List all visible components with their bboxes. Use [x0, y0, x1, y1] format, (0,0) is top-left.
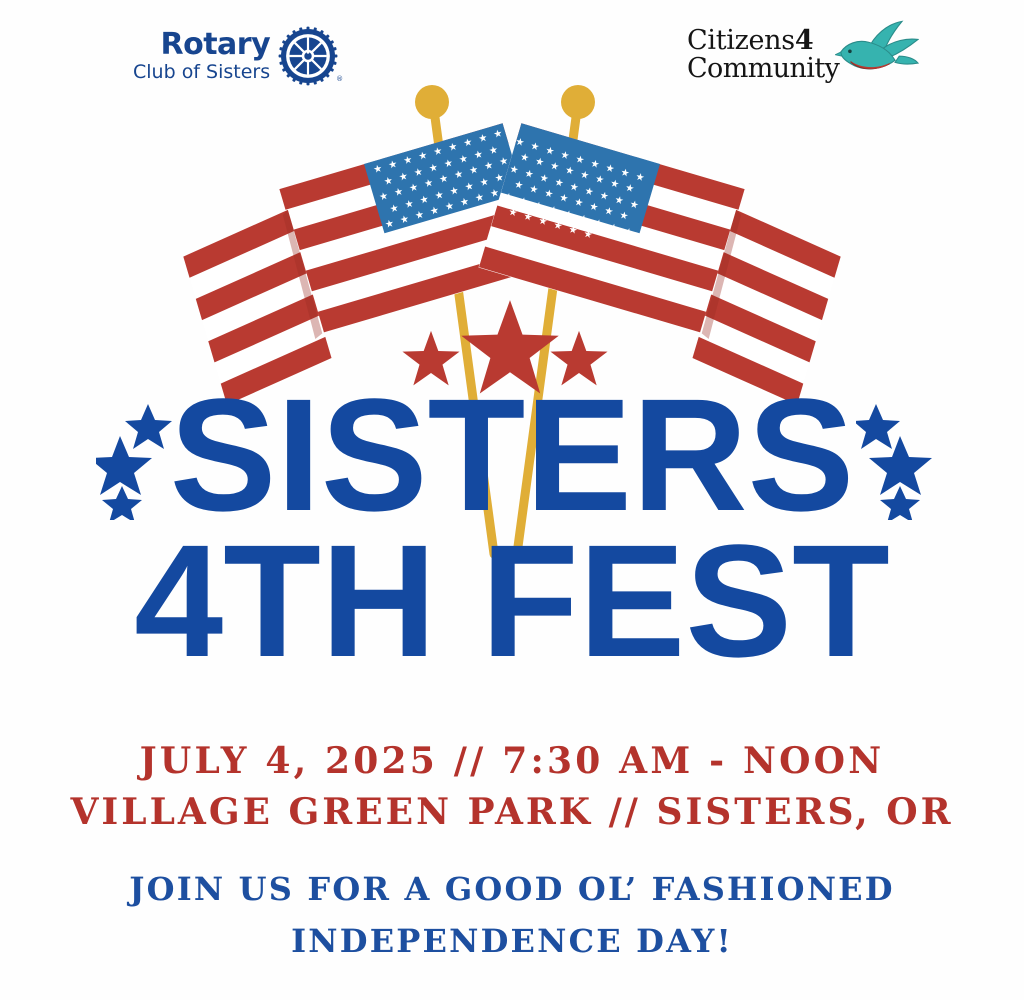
tagline-line-2: INDEPENDENCE DAY! [0, 916, 1024, 968]
event-venue-location: VILLAGE GREEN PARK // SISTERS, OR [0, 787, 1024, 838]
tagline-line-1: JOIN US FOR A GOOD OL’ FASHIONED [0, 864, 1024, 916]
registered-trademark-icon: ® [336, 75, 343, 83]
event-tagline: JOIN US FOR A GOOD OL’ FASHIONED INDEPEN… [0, 864, 1024, 968]
c4c-community-text: Community [687, 55, 839, 83]
poster-title: SISTERS 4TH FEST [0, 386, 1024, 669]
title-line-4th-fest: 4TH FEST [0, 532, 1024, 670]
rotary-club-of-sisters-logo: Rotary Club of Sisters [133, 26, 338, 86]
rotary-sub-text: Club of Sisters [133, 63, 270, 82]
rotary-wheel-icon: ® [278, 26, 338, 86]
swallow-bird-icon [835, 20, 919, 86]
rotary-wordmark: Rotary Club of Sisters [133, 30, 270, 82]
rotary-main-text: Rotary [160, 30, 270, 60]
title-line-sisters: SISTERS [0, 386, 1024, 524]
sponsor-logo-bar: Rotary Club of Sisters [0, 0, 1024, 104]
event-poster: Rotary Club of Sisters [0, 0, 1024, 1000]
citizens4community-logo: Citizens4 Community [687, 24, 919, 86]
c4c-numeral-four: 4 [795, 25, 814, 56]
event-details: JULY 4, 2025 // 7:30 AM - NOON VILLAGE G… [0, 736, 1024, 838]
c4c-line1: Citizens4 [687, 27, 839, 55]
c4c-wordmark: Citizens4 Community [687, 27, 839, 83]
event-date-time: JULY 4, 2025 // 7:30 AM - NOON [0, 736, 1024, 787]
c4c-citizens-text: Citizens [687, 25, 795, 56]
